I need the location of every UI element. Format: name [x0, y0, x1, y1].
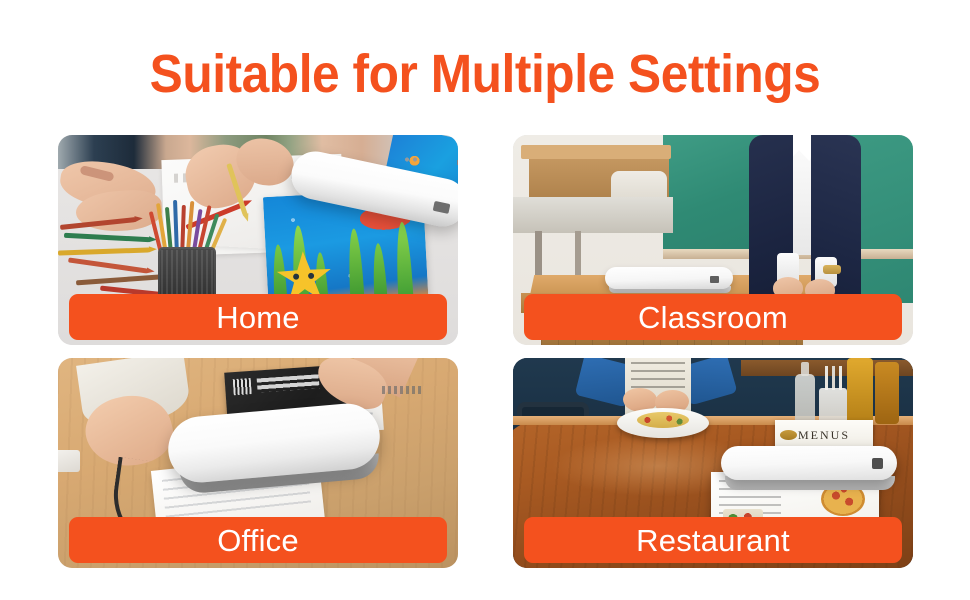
card-label-restaurant: Restaurant: [636, 525, 790, 556]
card-label-bar-home: Home: [69, 294, 447, 340]
page-title: Suitable for Multiple Settings: [39, 44, 931, 104]
setting-card-office[interactable]: Office: [58, 358, 458, 568]
card-label-classroom: Classroom: [638, 302, 788, 333]
menu-card-title: MENUS: [798, 428, 850, 443]
setting-card-classroom[interactable]: Classroom: [513, 135, 913, 345]
card-label-bar-office: Office: [69, 517, 447, 563]
setting-card-restaurant[interactable]: MENUS Restaurant: [513, 358, 913, 568]
card-label-bar-restaurant: Restaurant: [524, 517, 902, 563]
setting-card-home[interactable]: Home: [58, 135, 458, 345]
card-label-office: Office: [217, 525, 299, 556]
card-label-bar-classroom: Classroom: [524, 294, 902, 340]
card-label-home: Home: [216, 302, 300, 333]
settings-card-grid: Home: [58, 135, 913, 565]
